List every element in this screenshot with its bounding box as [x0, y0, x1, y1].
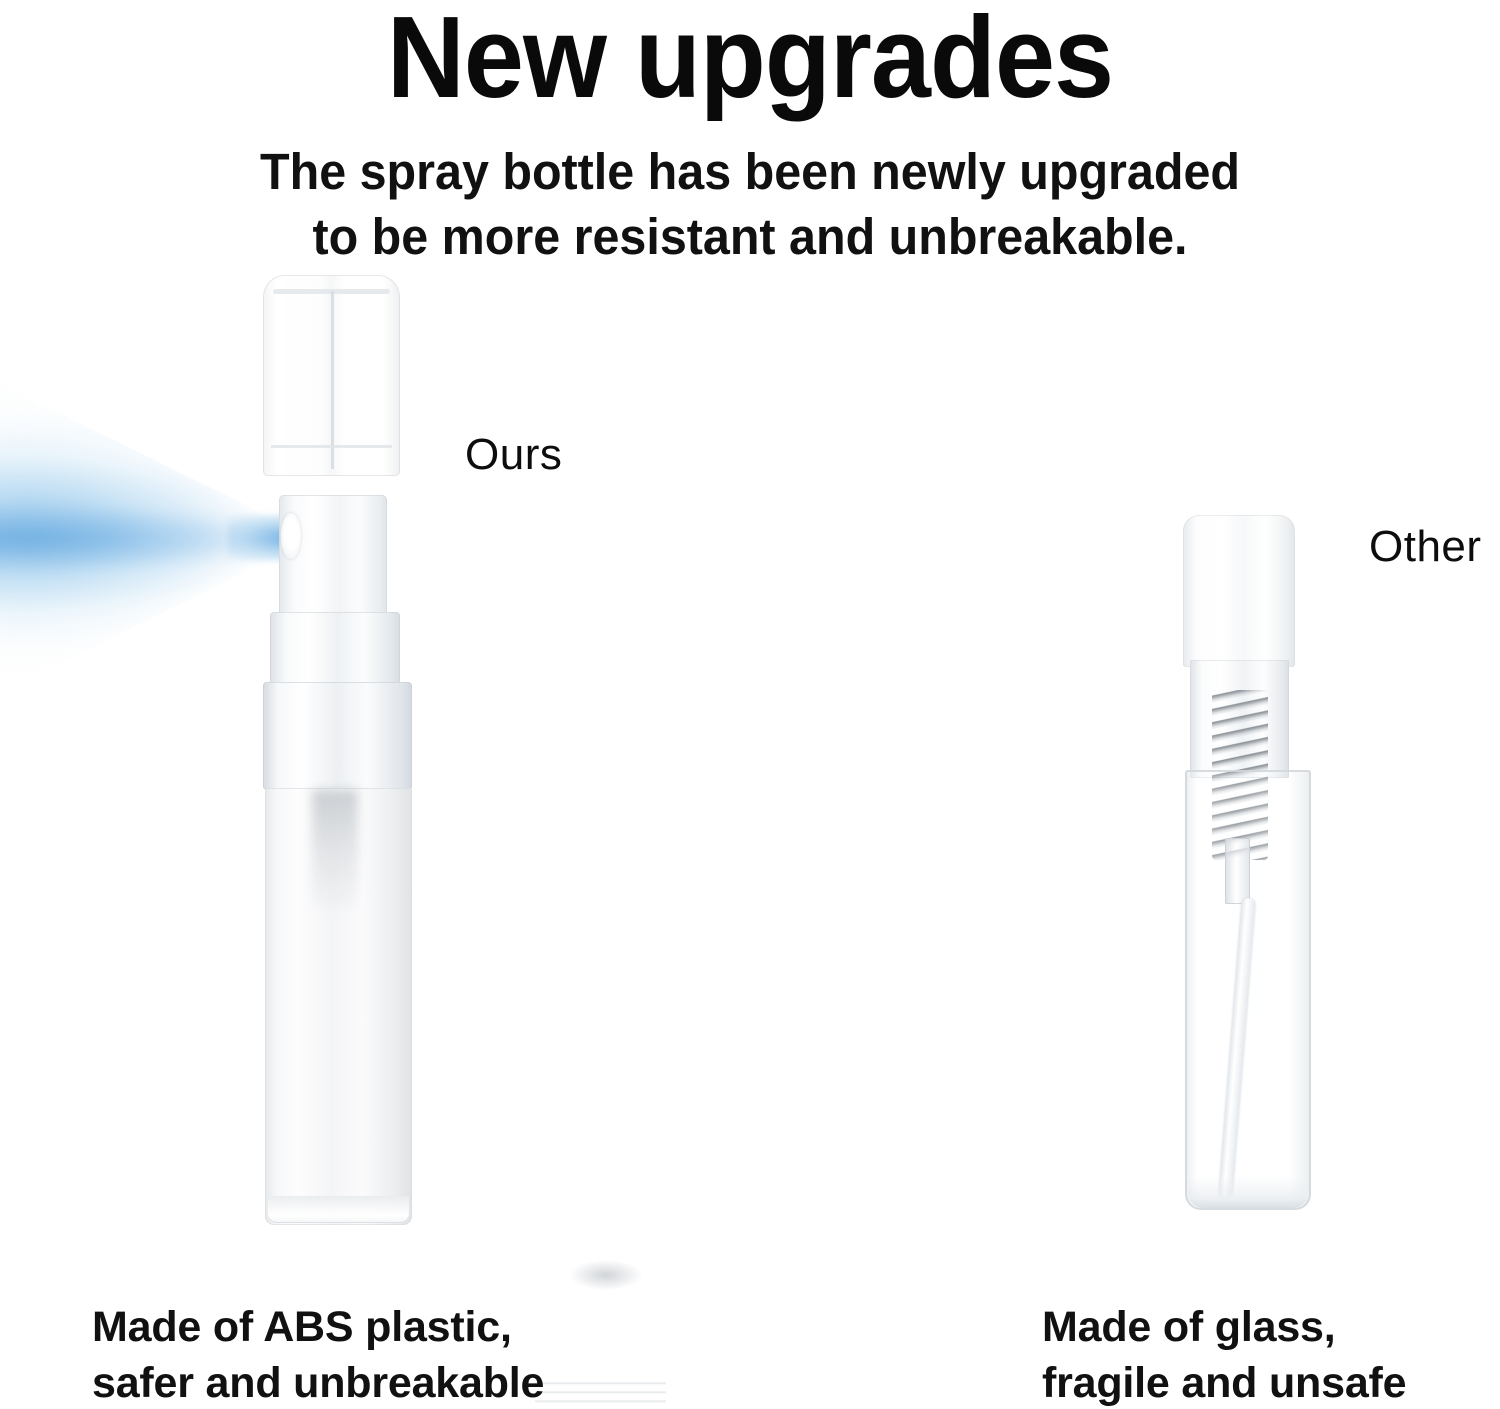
other-bottle-cap [1183, 515, 1295, 667]
caption-ours: Made of ABS plastic, safer and unbreakab… [92, 1300, 544, 1409]
caption-ours-line-1: Made of ABS plastic, [92, 1300, 544, 1356]
caption-ours-line-2: safer and unbreakable [92, 1356, 544, 1409]
dip-tube-connector [1225, 838, 1250, 904]
caption-other-line-2: fragile and unsafe [1042, 1356, 1406, 1409]
caption-other-line-1: Made of glass, [1042, 1300, 1406, 1356]
other-bottle-base [1188, 1176, 1308, 1208]
product-label-other: Other [1369, 522, 1482, 572]
caption-other: Made of glass, fragile and unsafe [1042, 1300, 1406, 1409]
product-other-illustration [0, 0, 1500, 1409]
product-comparison-infographic: New upgrades The spray bottle has been n… [0, 0, 1500, 1409]
